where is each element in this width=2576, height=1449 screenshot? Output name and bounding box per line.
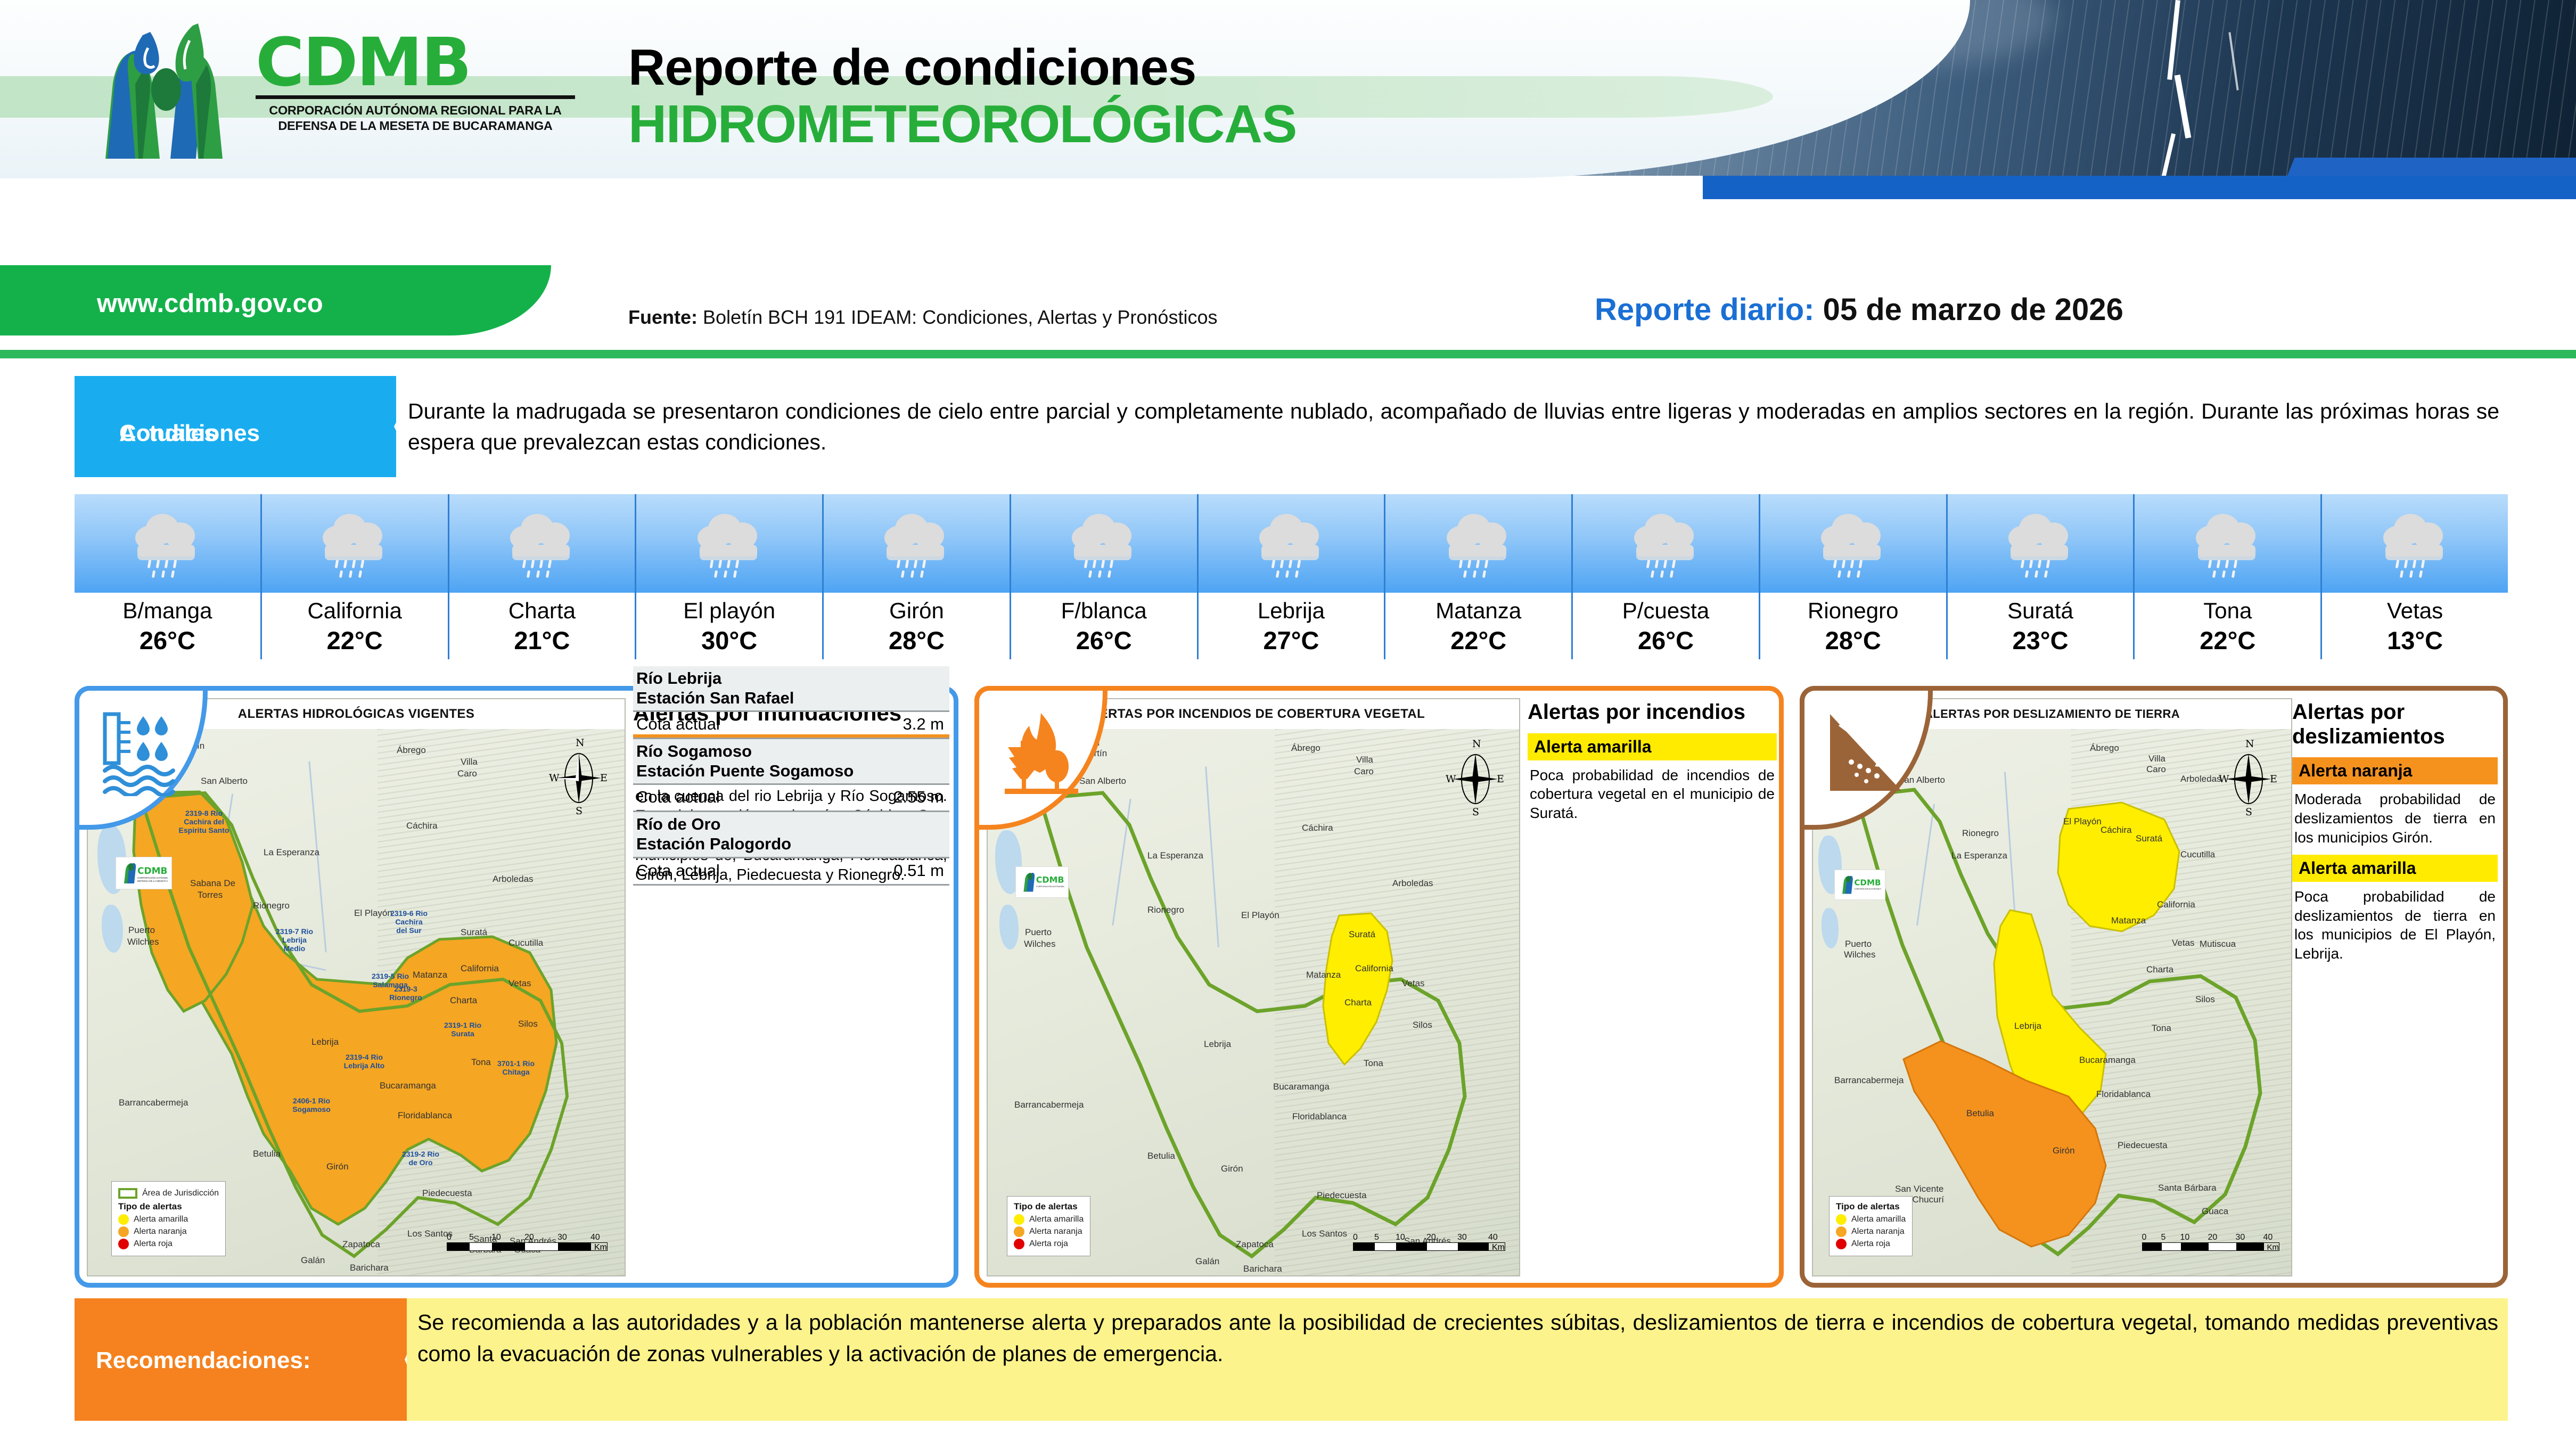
metric-label: Cota actual: [636, 715, 720, 734]
forest-fire-icon: [1002, 711, 1081, 796]
river-name: Río Sogamoso: [636, 742, 946, 762]
alert-panels: ALERTAS HIDROLÓGICAS VIGENTES: [75, 686, 2508, 1288]
map-logo-watermark: CDMB CORPORACIÓN AUTÓNOMA REGIONAL PARA …: [116, 857, 172, 889]
station-reading-row: Cota actual0.51 m: [633, 857, 949, 886]
rain-cloud-icon: [1069, 512, 1139, 576]
rain-cloud-icon: [1631, 512, 1701, 576]
svg-text:N: N: [2245, 738, 2254, 750]
weather-icon-area: [75, 494, 260, 593]
municipality-name: Vetas: [2322, 598, 2508, 624]
landslide-alerts-panel: ALERTAS POR DESLIZAMIENTO DE TIERRA: [1800, 686, 2508, 1288]
municipality-temperature: 26°C: [1573, 626, 1759, 655]
landslide-icon: [1827, 711, 1907, 796]
river-name: Río de Oro: [636, 815, 946, 834]
compass-rose-icon: N W E S: [549, 736, 609, 816]
page-title: Reporte de condiciones HIDROMETEOROLÓGIC…: [628, 42, 1297, 151]
municipality-temperature: 28°C: [1760, 626, 1946, 655]
municipality-cell: Rionegro28°C: [1760, 494, 1948, 659]
svg-text:E: E: [1497, 773, 1504, 785]
municipality-temperature: 30°C: [636, 626, 822, 655]
fire-map-legend: Tipo de alertas Alerta amarilla Alerta n…: [1007, 1196, 1090, 1256]
rain-cloud-icon: [1818, 512, 1888, 576]
legend-title: Tipo de alertas: [1836, 1201, 1906, 1212]
municipality-name: Charta: [449, 598, 635, 624]
river-station-table: Río LebrijaEstación San RafaelCota actua…: [633, 666, 949, 885]
metric-label: Cota actual: [636, 861, 720, 880]
station-name: Estación Palogordo: [636, 834, 946, 854]
rain-cloud-icon: [319, 512, 390, 576]
municipality-temperature: 21°C: [449, 626, 635, 655]
legend-item-orange: Alerta naranja: [1851, 1227, 1905, 1237]
weather-icon-area: [1760, 494, 1946, 593]
legend-item-red: Alerta roja: [1029, 1239, 1068, 1249]
municipality-temperature: 26°C: [75, 626, 260, 655]
conditions-tag-line2: Actuales: [119, 419, 217, 448]
legend-jurisdiction-label: Área de Jurisdicción: [142, 1189, 219, 1198]
metric-value: 0.51 m: [893, 861, 944, 880]
title-line-2: HIDROMETEOROLÓGICAS: [628, 97, 1297, 151]
map-logo-watermark: CDMB CORPORACIÓN AUTÓNOMA REGIONAL: [1834, 870, 1885, 900]
municipality-name: B/manga: [75, 598, 260, 624]
weather-icon-area: [1199, 494, 1384, 593]
fire-alert-level: Alerta amarilla: [1528, 733, 1777, 760]
landslide-alert-level-orange: Alerta naranja: [2292, 757, 2498, 784]
svg-text:S: S: [576, 805, 583, 816]
report-page: CDMB CORPORACIÓN AUTÓNOMA REGIONAL PARA …: [0, 0, 2576, 1449]
station-reading-row: Cota actual2.55 m: [633, 783, 949, 812]
flood-map-legend: Área de Jurisdicción Tipo de alertas Ale…: [111, 1181, 226, 1256]
recommendations-tag-label: Recomendaciones:: [96, 1347, 310, 1374]
municipality-cell: Vetas13°C: [2322, 494, 2508, 659]
station-reading-row: Cota actual3.2 m: [633, 710, 949, 739]
website-banner[interactable]: www.cdmb.gov.co: [0, 265, 551, 335]
recommendations-section: Recomendaciones: Se recomienda a las aut…: [75, 1298, 2508, 1421]
landslide-alert-level-yellow: Alerta amarilla: [2292, 855, 2498, 882]
municipality-name: El playón: [636, 598, 822, 624]
municipality-cell: B/manga26°C: [75, 494, 262, 659]
municipality-cell: Charta21°C: [449, 494, 637, 659]
weather-icon-area: [824, 494, 1010, 593]
svg-text:CDMB: CDMB: [1036, 875, 1064, 885]
station-header: Río LebrijaEstación San Rafael: [633, 666, 949, 710]
rain-cloud-icon: [694, 512, 765, 576]
municipality-temperature: 28°C: [824, 626, 1010, 655]
legend-item-yellow: Alerta amarilla: [1851, 1215, 1906, 1224]
weather-icon-area: [636, 494, 822, 593]
flood-alert-details: Alertas por inundaciones Alerta naranja …: [633, 700, 949, 893]
compass-rose-icon: N W E S: [1446, 738, 1505, 817]
recommendations-tag: Recomendaciones:: [75, 1298, 405, 1421]
report-date: Reporte diario: 05 de marzo de 2026: [1595, 292, 2123, 328]
svg-text:N: N: [1472, 738, 1481, 750]
station-name: Estación San Rafael: [636, 689, 946, 708]
landslide-alert-text-orange: Moderada probabilidad de deslizamientos …: [2292, 784, 2498, 854]
rain-cloud-icon: [507, 512, 577, 576]
municipality-name: California: [262, 598, 448, 624]
report-date-value: 05 de marzo de 2026: [1823, 292, 2123, 327]
compass-rose-icon: N W E S: [2219, 738, 2278, 817]
metric-value: 3.2 m: [903, 715, 944, 734]
municipality-name: Suratá: [1948, 598, 2134, 624]
municipality-name: F/blanca: [1011, 598, 1197, 624]
legend-item-yellow: Alerta amarilla: [134, 1215, 188, 1224]
cdmb-figures-icon: [80, 20, 256, 159]
legend-item-orange: Alerta naranja: [134, 1227, 187, 1237]
municipality-cell: F/blanca26°C: [1011, 494, 1199, 659]
weather-icon-area: [1573, 494, 1759, 593]
current-conditions-section: Condiciones Actuales Durante la madrugad…: [75, 376, 2508, 477]
station-header: Río SogamosoEstación Puente Sogamoso: [633, 739, 949, 783]
current-conditions-text: Durante la madrugada se presentaron cond…: [396, 396, 2508, 457]
municipality-temperature: 23°C: [1948, 626, 2134, 655]
municipality-cell: Lebrija27°C: [1199, 494, 1386, 659]
svg-text:CORPORACIÓN AUTÓNOMA REGIONAL: CORPORACIÓN AUTÓNOMA REGIONAL: [1854, 888, 1881, 890]
landslide-alert-text-yellow: Poca probabilidad de deslizamientos de t…: [2292, 882, 2498, 971]
svg-text:CORPORACIÓN AUTÓNOMA REGIONAL: CORPORACIÓN AUTÓNOMA REGIONAL PARA LA: [137, 876, 168, 879]
rain-cloud-icon: [2380, 512, 2450, 576]
municipality-temperature: 26°C: [1011, 626, 1197, 655]
rain-cloud-icon: [881, 512, 951, 576]
weather-icon-area: [1011, 494, 1197, 593]
municipality-name: Tona: [2135, 598, 2320, 624]
weather-icon-area: [2135, 494, 2320, 593]
weather-icon-area: [2322, 494, 2508, 593]
municipality-name: Girón: [824, 598, 1010, 624]
municipality-name: Lebrija: [1199, 598, 1384, 624]
water-level-gauge-icon: [102, 711, 182, 796]
weather-icon-area: [449, 494, 635, 593]
municipality-name: Matanza: [1385, 598, 1571, 624]
logo-subtitle-line2: DEFENSA DE LA MESETA DE BUCARAMANGA: [256, 118, 575, 134]
svg-text:CORPORACIÓN AUTÓNOMA REGIONAL: CORPORACIÓN AUTÓNOMA REGIONAL: [1036, 885, 1064, 888]
page-header: CDMB CORPORACIÓN AUTÓNOMA REGIONAL PARA …: [0, 0, 2576, 256]
source-note: Fuente: Boletín BCH 191 IDEAM: Condicion…: [628, 306, 1217, 329]
info-bar: www.cdmb.gov.co: [0, 261, 2576, 341]
fire-alert-text: Poca probabilidad de incendios de cobert…: [1528, 760, 1777, 830]
green-divider: [0, 350, 2576, 358]
legend-item-red: Alerta roja: [134, 1239, 173, 1249]
fire-panel-heading: Alertas por incendios: [1528, 700, 1777, 725]
weather-icon-area: [1948, 494, 2134, 593]
river-name: Río Lebrija: [636, 669, 946, 689]
municipality-cell: Girón28°C: [824, 494, 1011, 659]
rain-cloud-icon: [132, 512, 202, 576]
municipality-cell: Suratá23°C: [1948, 494, 2135, 659]
weather-icon-area: [262, 494, 448, 593]
svg-text:E: E: [600, 772, 608, 784]
logo-subtitle-line1: CORPORACIÓN AUTÓNOMA REGIONAL PARA LA: [256, 103, 575, 118]
current-conditions-body: Durante la madrugada se presentaron cond…: [396, 376, 2508, 477]
municipality-temperature: 22°C: [262, 626, 448, 655]
metric-label: Cota actual: [636, 788, 720, 807]
rain-cloud-icon: [1256, 512, 1326, 576]
landslide-panel-heading: Alertas por deslizamientos: [2292, 700, 2498, 749]
svg-text:N: N: [576, 737, 585, 749]
landslide-map-scalebar: 0510203040 Km: [2142, 1233, 2280, 1251]
legend-title: Tipo de alertas: [118, 1201, 219, 1212]
municipality-cell: Matanza22°C: [1385, 494, 1573, 659]
fire-alerts-panel: ALERTAS POR INCENDIOS DE COBERTURA VEGET…: [974, 686, 1784, 1288]
svg-text:DEFENSA DE LA MESETA DE BUCARA: DEFENSA DE LA MESETA DE BUCARAMANGA: [137, 880, 168, 882]
source-label: Fuente:: [628, 306, 698, 328]
legend-item-red: Alerta roja: [1851, 1239, 1890, 1249]
rain-cloud-icon: [2193, 512, 2263, 576]
municipality-cell: California22°C: [262, 494, 449, 659]
municipality-cell: P/cuesta26°C: [1573, 494, 1760, 659]
report-date-label: Reporte diario:: [1595, 292, 1815, 327]
landslide-map-legend: Tipo de alertas Alerta amarilla Alerta n…: [1829, 1196, 1913, 1256]
metric-value: 2.55 m: [893, 788, 944, 807]
municipality-name: Rionegro: [1760, 598, 1946, 624]
municipality-temperature: 13°C: [2322, 626, 2508, 655]
legend-item-yellow: Alerta amarilla: [1029, 1215, 1084, 1224]
svg-text:S: S: [1472, 806, 1479, 817]
rain-cloud-icon: [2005, 512, 2075, 576]
municipality-name: P/cuesta: [1573, 598, 1759, 624]
legend-title: Tipo de alertas: [1014, 1201, 1084, 1212]
landslide-alert-details: Alertas por deslizamientos Alerta naranj…: [2292, 700, 2498, 971]
svg-text:CDMB: CDMB: [137, 866, 167, 877]
municipality-temperature: 22°C: [1385, 626, 1571, 655]
recommendations-body: Se recomienda a las autoridades y a la p…: [407, 1298, 2508, 1421]
svg-text:E: E: [2270, 773, 2277, 785]
station-name: Estación Puente Sogamoso: [636, 762, 946, 781]
weather-icon-area: [1385, 494, 1571, 593]
legend-item-orange: Alerta naranja: [1029, 1227, 1082, 1237]
title-line-1: Reporte de condiciones: [628, 42, 1297, 94]
map-logo-watermark: CDMB CORPORACIÓN AUTÓNOMA REGIONAL: [1015, 866, 1069, 898]
source-text: Boletín BCH 191 IDEAM: Condiciones, Aler…: [703, 306, 1217, 328]
municipality-temperature: 22°C: [2135, 626, 2320, 655]
municipality-cell: Tona22°C: [2135, 494, 2322, 659]
rain-cloud-icon: [1443, 512, 1514, 576]
station-header: Río de OroEstación Palogordo: [633, 812, 949, 856]
municipality-cell: El playón30°C: [636, 494, 824, 659]
svg-text:CDMB: CDMB: [1854, 878, 1881, 888]
cdmb-logo: CDMB CORPORACIÓN AUTÓNOMA REGIONAL PARA …: [80, 20, 612, 159]
svg-text:S: S: [2245, 806, 2252, 817]
flood-alerts-panel: ALERTAS HIDROLÓGICAS VIGENTES: [75, 686, 958, 1288]
fire-map-scalebar: 0510203040 Km: [1353, 1233, 1505, 1251]
current-conditions-tag: Condiciones Actuales: [75, 376, 394, 477]
logo-acronym: CDMB: [256, 32, 575, 93]
flood-map-scalebar: 0510203040 Km: [447, 1233, 608, 1251]
municipality-temperature: 27°C: [1199, 626, 1384, 655]
recommendations-text: Se recomienda a las autoridades y a la p…: [407, 1298, 2508, 1370]
municipality-forecast-strip: B/manga26°CCalifornia22°CCharta21°CEl pl…: [75, 494, 2508, 659]
website-url[interactable]: www.cdmb.gov.co: [97, 289, 323, 318]
fire-alert-details: Alertas por incendios Alerta amarilla Po…: [1528, 700, 1777, 830]
